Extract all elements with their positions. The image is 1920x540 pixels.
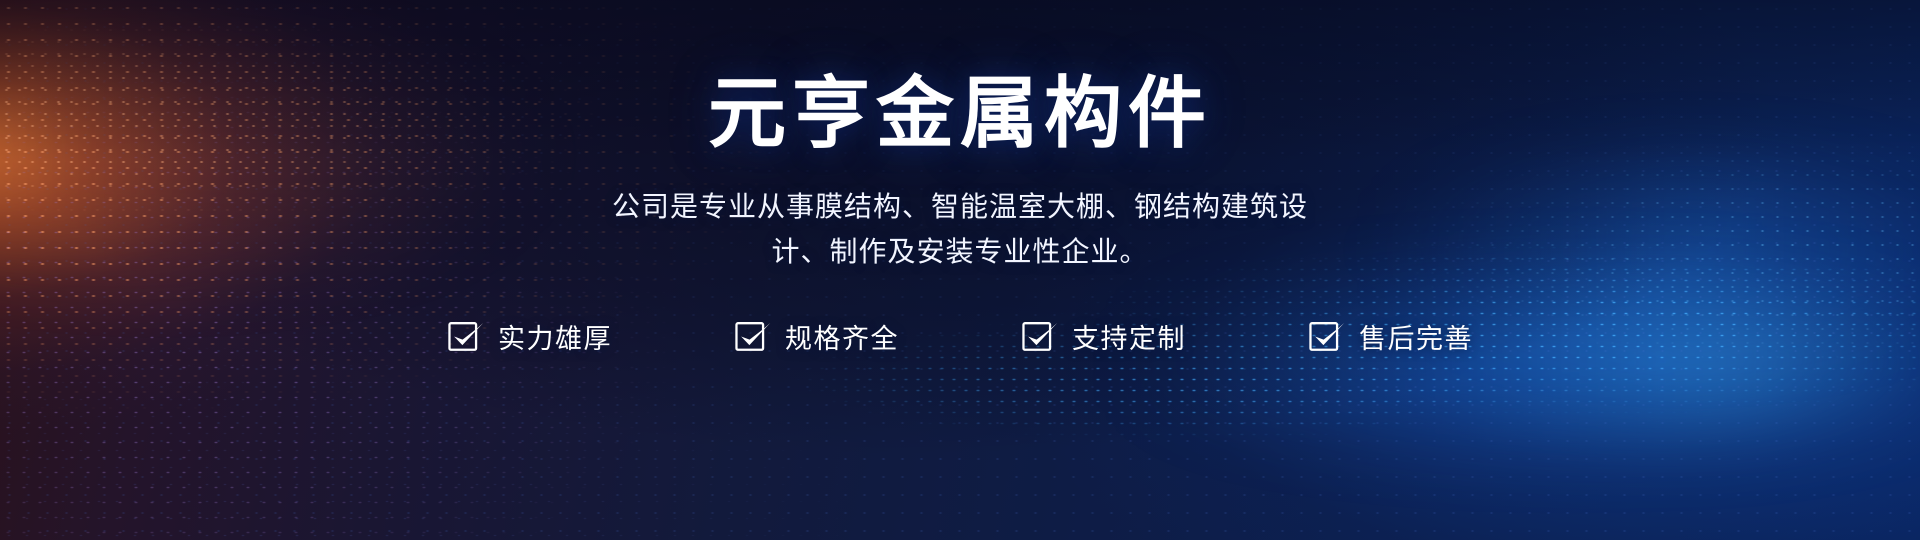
feature-item-2: 规格齐全 — [734, 317, 899, 356]
checkbox-check-icon — [734, 317, 772, 355]
banner-title: 元亨金属构件 — [708, 74, 1212, 152]
checkbox-check-icon — [1308, 317, 1346, 355]
banner-subtitle-line-1: 公司是专业从事膜结构、智能温室大棚、钢结构建筑设 — [520, 184, 1400, 229]
checkbox-check-icon — [447, 317, 485, 355]
feature-item-1: 实力雄厚 — [447, 317, 612, 356]
feature-label-2: 规格齐全 — [785, 317, 899, 356]
feature-label-4: 售后完善 — [1359, 317, 1473, 356]
hero-banner: 元亨金属构件 公司是专业从事膜结构、智能温室大棚、钢结构建筑设 计、制作及安装专… — [0, 0, 1920, 540]
feature-item-4: 售后完善 — [1308, 317, 1473, 356]
feature-item-3: 支持定制 — [1021, 317, 1186, 356]
banner-subtitle-line-2: 计、制作及安装专业性企业。 — [520, 229, 1400, 274]
checkbox-check-icon — [1021, 317, 1059, 355]
banner-content: 元亨金属构件 公司是专业从事膜结构、智能温室大棚、钢结构建筑设 计、制作及安装专… — [0, 0, 1920, 540]
feature-list: 实力雄厚 规格齐全 支持定制 — [447, 317, 1473, 356]
feature-label-1: 实力雄厚 — [498, 317, 612, 356]
feature-label-3: 支持定制 — [1072, 317, 1186, 356]
banner-subtitle: 公司是专业从事膜结构、智能温室大棚、钢结构建筑设 计、制作及安装专业性企业。 — [520, 184, 1400, 275]
